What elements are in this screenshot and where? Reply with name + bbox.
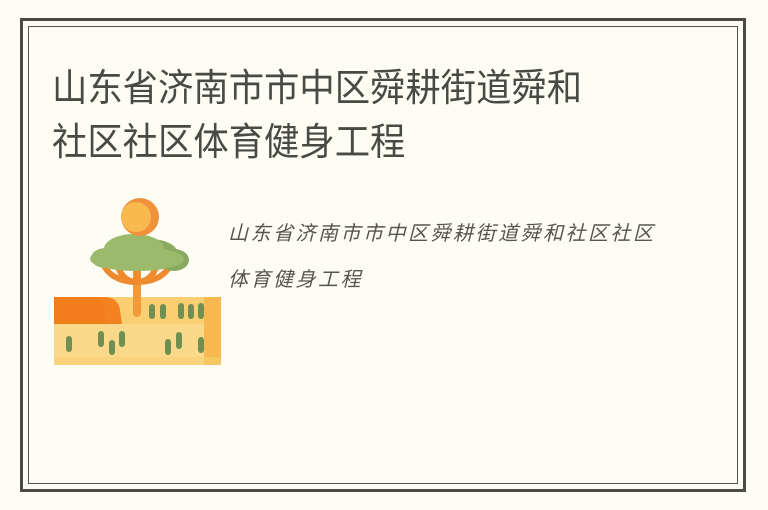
content-block: 山东省济南市市中区舜耕街道舜和社区社区体育健身工程 [52, 196, 672, 371]
body-paragraph: 山东省济南市市中区舜耕街道舜和社区社区体育健身工程 [228, 210, 658, 302]
landscape-tree-sun-icon [52, 196, 227, 371]
poster-card: 山东省济南市市中区舜耕街道舜和社区社区体育健身工程 [0, 0, 768, 510]
page-title: 山东省济南市市中区舜耕街道舜和社区社区体育健身工程 [52, 62, 610, 170]
